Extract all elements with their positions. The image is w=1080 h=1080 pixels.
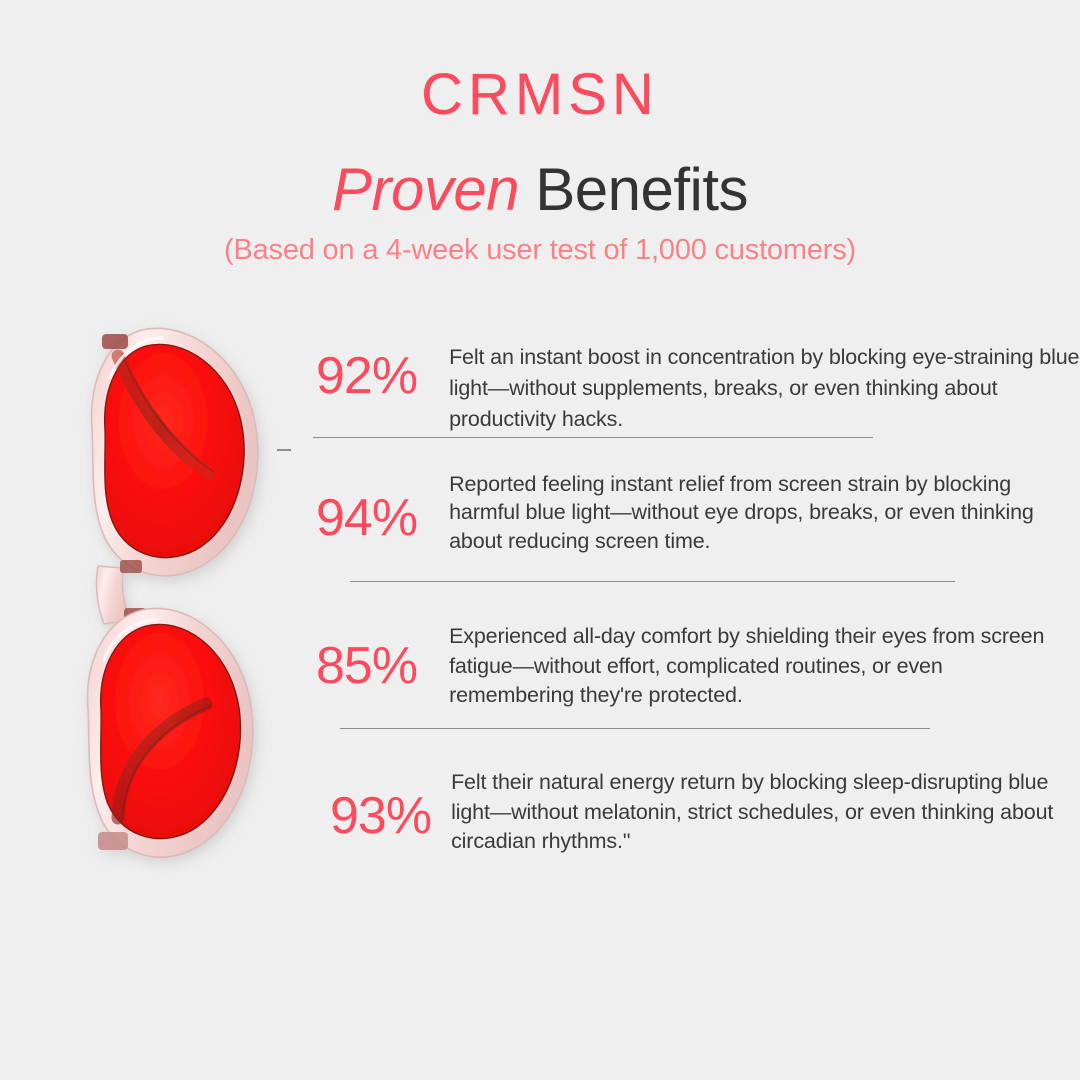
benefit-row: 94% Reported feeling instant relief from…: [316, 470, 1059, 555]
row-divider: [340, 728, 930, 729]
hinge-upper: [102, 334, 128, 349]
benefit-description: Felt an instant boost in concentration b…: [449, 342, 1080, 436]
product-image-glasses: [58, 308, 278, 873]
stray-dash-mark: [277, 449, 291, 451]
page-title: Proven Benefits: [0, 158, 1080, 221]
row-divider: [313, 437, 873, 438]
benefit-row: 85% Experienced all-day comfort by shiel…: [316, 622, 1049, 711]
benefit-description: Experienced all-day comfort by shielding…: [449, 622, 1049, 711]
page-title-main: Benefits: [519, 156, 748, 223]
promo-graphic: CRMSN Proven Benefits (Based on a 4-week…: [0, 0, 1080, 1080]
page-subtitle: (Based on a 4-week user test of 1,000 cu…: [0, 234, 1080, 267]
benefit-row: 93% Felt their natural energy return by …: [330, 768, 1071, 857]
benefit-percentage: 94%: [316, 492, 417, 544]
brand-wordmark: CRMSN: [0, 66, 1080, 124]
row-divider: [350, 581, 955, 582]
hinge-bridge-top: [120, 560, 142, 573]
benefit-percentage: 93%: [330, 790, 431, 842]
glasses-illustration: [58, 308, 278, 873]
page-title-accent: Proven: [332, 156, 519, 223]
benefit-percentage: 92%: [316, 350, 417, 402]
hinge-lower: [98, 832, 128, 850]
benefit-description: Reported feeling instant relief from scr…: [449, 470, 1059, 555]
benefit-row: 92% Felt an instant boost in concentrati…: [316, 342, 1080, 436]
benefit-description: Felt their natural energy return by bloc…: [451, 768, 1071, 857]
benefit-percentage: 85%: [316, 640, 417, 692]
